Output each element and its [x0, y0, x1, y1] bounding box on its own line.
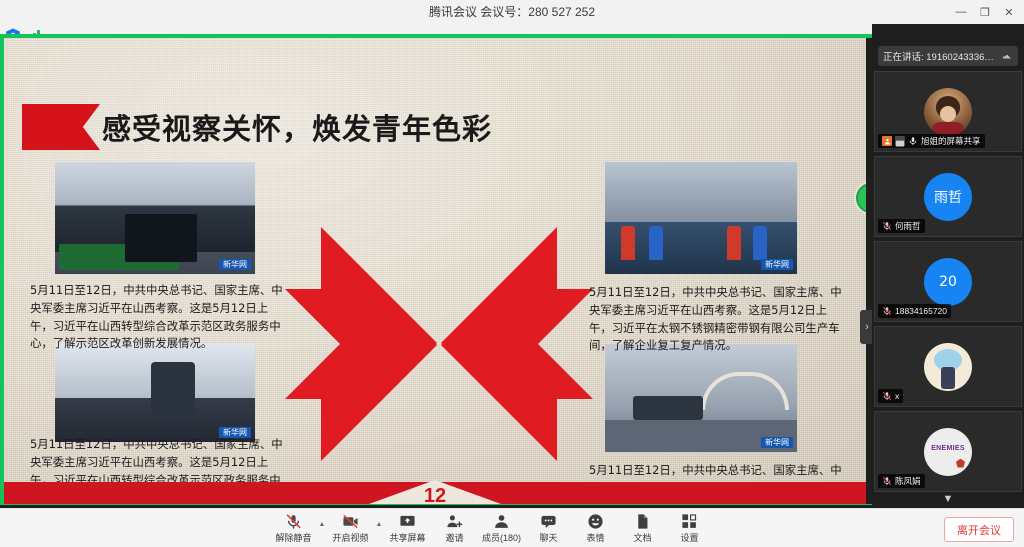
participant-tile[interactable]: 20 18834165720 [874, 241, 1022, 322]
shared-screen-region: 感受视察关怀，焕发青年色彩 新华网 新华网 [0, 34, 872, 508]
slide-footer-band: 12 [4, 482, 866, 504]
slide-caption-2: 5月11日至12日，中共中央总书记、国家主席、中央军委主席习近平在山西考察。这是… [589, 284, 847, 355]
tencent-meeting-window: 腾讯会议 会议号：280 527 252 — ❐ ✕ 43:17 感受视察关怀，… [0, 0, 1024, 547]
avatar [924, 88, 972, 136]
share-badge-icon [895, 136, 905, 146]
participant-name: 18834165720 [895, 306, 947, 316]
participant-name-chip: 何雨哲 [878, 219, 925, 233]
mic-off-icon [882, 221, 892, 231]
camera-off-icon [342, 513, 359, 530]
photo-watermark: 新华网 [219, 259, 251, 270]
slide-photo-2: 新华网 [605, 162, 797, 274]
avatar: ENEMIES [924, 428, 972, 476]
participant-name: x [895, 391, 899, 401]
leave-meeting-button[interactable]: 离开会议 [944, 517, 1014, 542]
close-button[interactable]: ✕ [998, 2, 1020, 22]
participant-name-chip: 旭姐的屏幕共享 [878, 134, 985, 148]
toolbar-unmute-button[interactable]: 解除静音 [270, 509, 317, 547]
speaking-indicator: 正在讲话: 19160243336方... [878, 46, 1018, 66]
mic-off-icon [285, 513, 302, 530]
mic-off-icon [882, 391, 892, 401]
members-icon [493, 513, 510, 530]
red-arrows-graphic [269, 193, 609, 493]
toolbar-label: 解除静音 [275, 531, 311, 544]
avatar-logo-text: ENEMIES [924, 445, 972, 452]
avatar [924, 343, 972, 391]
slide-photo-1: 新华网 [55, 162, 255, 274]
participant-tile[interactable]: ENEMIES 陈凤娟 [874, 411, 1022, 492]
participant-name-chip: x [878, 389, 903, 403]
collapse-arrow-icon[interactable] [1001, 50, 1013, 62]
mic-options-caret-icon[interactable]: ▲ [317, 509, 327, 547]
document-icon [634, 513, 651, 530]
toolbar-chat-button[interactable]: 聊天 [525, 509, 572, 547]
avatar: 20 [924, 258, 972, 306]
toolbar-items: 解除静音 ▲ 开启视频 ▲ 共享屏幕 [270, 509, 713, 547]
toolbar-label: 文档 [633, 531, 651, 544]
avatar: 雨哲 [924, 173, 972, 221]
toolbar-document-button[interactable]: 文档 [619, 509, 666, 547]
participant-tile[interactable]: 旭姐的屏幕共享 [874, 71, 1022, 152]
participant-name: 陈凤娟 [895, 475, 921, 487]
toolbar-start-video-button[interactable]: 开启视频 [327, 509, 374, 547]
participant-tile[interactable]: x [874, 326, 1022, 407]
host-badge-icon [882, 136, 892, 146]
avatar-initials: 20 [939, 274, 957, 290]
minimize-button[interactable]: — [950, 2, 972, 22]
participant-tile[interactable]: 雨哲 何雨哲 [874, 156, 1022, 237]
video-options-caret-icon[interactable]: ▲ [374, 509, 384, 547]
toolbar-invite-button[interactable]: 邀请 [431, 509, 478, 547]
toolbar-emoji-button[interactable]: 表情 [572, 509, 619, 547]
participant-name: 何雨哲 [895, 220, 921, 232]
presentation-slide: 感受视察关怀，焕发青年色彩 新华网 新华网 [4, 38, 866, 504]
toolbar-label: 开启视频 [332, 531, 368, 544]
toolbar-share-screen-button[interactable]: 共享屏幕 [384, 509, 431, 547]
toolbar-label: 成员(180) [482, 531, 521, 544]
participant-name-chip: 18834165720 [878, 304, 951, 318]
invite-person-icon [446, 513, 463, 530]
slide-photo-3: 新华网 [55, 344, 255, 442]
mic-off-icon [882, 476, 892, 486]
window-title: 腾讯会议 会议号：280 527 252 [0, 0, 1024, 24]
settings-grid-icon [681, 513, 698, 530]
window-controls: — ❐ ✕ [950, 0, 1020, 24]
speaking-label: 正在讲话: 19160243336方... [883, 49, 1001, 63]
toolbar-settings-button[interactable]: 设置 [666, 509, 713, 547]
slide-photo-4: 新华网 [605, 344, 797, 452]
toolbar-label: 表情 [586, 531, 604, 544]
photo-watermark: 新华网 [761, 259, 793, 270]
share-screen-icon [399, 513, 416, 530]
participant-tiles: 旭姐的屏幕共享 雨哲 何雨哲 20 [874, 71, 1022, 486]
green-badge-icon [856, 183, 866, 213]
toolbar-label: 聊天 [539, 531, 557, 544]
avatar-initials: 雨哲 [934, 187, 962, 207]
photo-watermark: 新华网 [761, 437, 793, 448]
toolbar-label: 设置 [680, 531, 698, 544]
slide-caption-1: 5月11日至12日，中共中央总书记、国家主席、中央军委主席习近平在山西考察。这是… [30, 282, 285, 353]
participant-name: 旭姐的屏幕共享 [921, 135, 981, 147]
emoji-icon [587, 513, 604, 530]
mic-off-icon [882, 306, 892, 316]
meeting-toolbar: 解除静音 ▲ 开启视频 ▲ 共享屏幕 [0, 508, 1024, 547]
toolbar-label: 共享屏幕 [389, 531, 425, 544]
chat-bubble-icon [540, 513, 557, 530]
participant-name-chip: 陈凤娟 [878, 474, 925, 488]
slide-page-number: 12 [424, 485, 446, 504]
maximize-button[interactable]: ❐ [974, 2, 996, 22]
mic-icon [908, 136, 918, 146]
title-bar: 腾讯会议 会议号：280 527 252 — ❐ ✕ [0, 0, 1024, 25]
title-banner-shape [22, 104, 100, 150]
toolbar-members-button[interactable]: 成员(180) [478, 509, 525, 547]
slide-title: 感受视察关怀，焕发青年色彩 [102, 106, 492, 148]
toolbar-label: 邀请 [445, 531, 463, 544]
